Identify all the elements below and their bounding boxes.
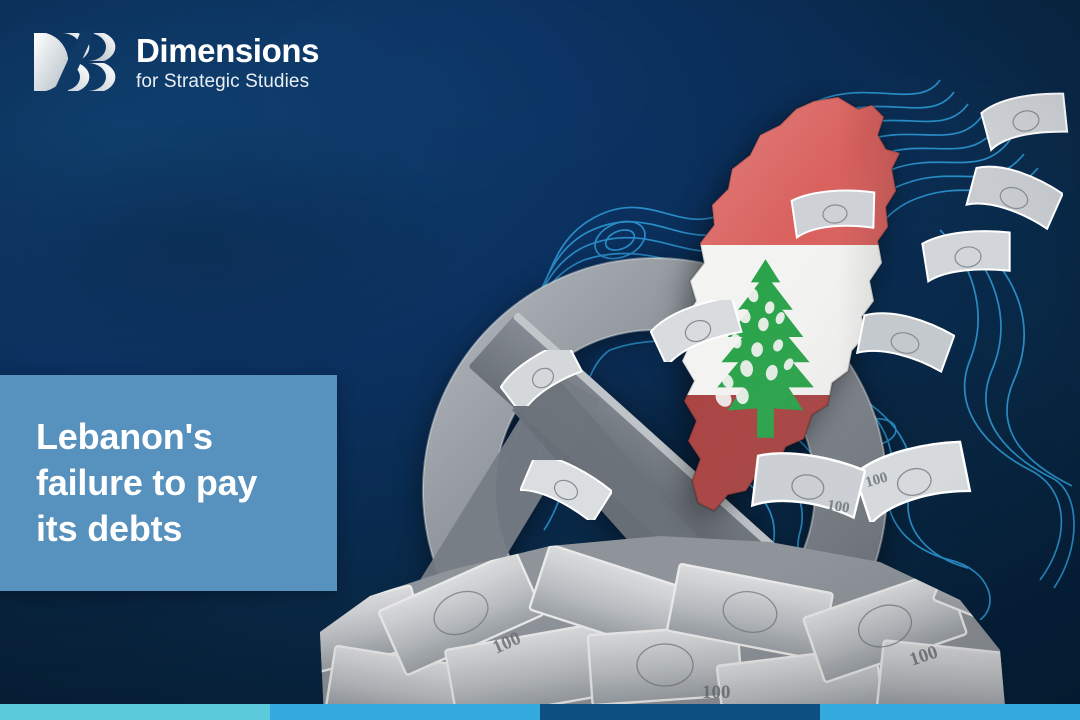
background-vignette	[0, 0, 1080, 720]
page-title: Lebanon's failure to pay its debts	[0, 414, 283, 551]
headline-line-2: failure to pay	[36, 462, 257, 503]
poster-canvas: 100 100 100	[0, 0, 1080, 720]
headline-line-3: its debts	[36, 508, 182, 549]
headline-line-1: Lebanon's	[36, 416, 213, 457]
dss-monogram-icon	[32, 31, 120, 93]
bottom-bar-segment-cyan	[0, 704, 270, 720]
bottom-bar-segment-blue	[820, 704, 1080, 720]
headline-panel: Lebanon's failure to pay its debts	[0, 375, 337, 591]
brand-logo[interactable]: Dimensions for Strategic Studies	[32, 31, 319, 93]
brand-subtitle: for Strategic Studies	[136, 72, 319, 91]
brand-title: Dimensions	[136, 34, 319, 67]
bottom-bar-segment-light-blue	[270, 704, 540, 720]
bottom-color-bar	[0, 704, 1080, 720]
brand-logo-text: Dimensions for Strategic Studies	[136, 34, 319, 91]
bottom-bar-segment-dark-blue	[540, 704, 820, 720]
